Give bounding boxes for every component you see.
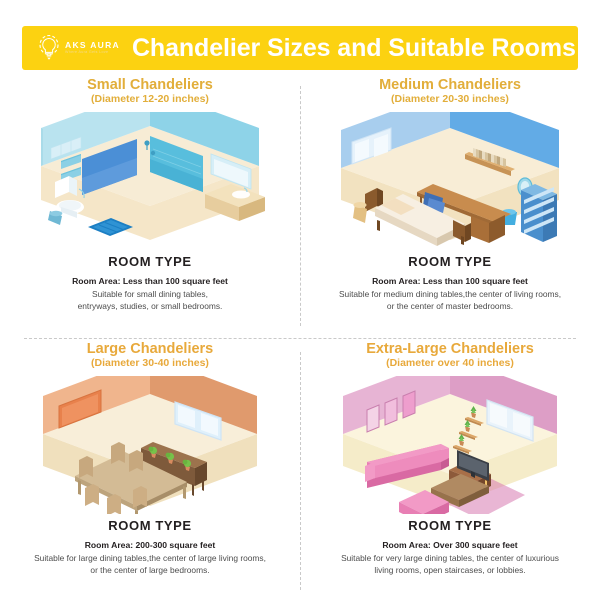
room-description-line2: or the center of master bedrooms. [387,301,513,311]
room-description-line2: living rooms, open staircases, or lobbie… [374,565,525,575]
bedroom-isometric [325,112,575,250]
infographic-root: AKS AURA Where Aura Gets Love Chandelier… [0,0,600,600]
logo-name: AKS AURA [65,41,120,50]
room-description-line1: Suitable for very large dining tables, t… [341,553,559,563]
room-description: Suitable for large dining tables,the cen… [5,552,295,576]
brand-logo: AKS AURA Where Aura Gets Love [36,33,120,63]
room-type-label: ROOM TYPE [108,254,191,269]
panel-grid: Small Chandeliers (Diameter 12-20 inches… [0,74,600,594]
panel-heading: Medium Chandeliers [379,78,521,93]
panel-large-chandeliers: Large Chandeliers (Diameter 30-40 inches… [0,338,300,598]
room-area: Room Area: Less than 100 square feet [372,276,528,286]
room-description-line1: Suitable for medium dining tables,the ce… [339,289,561,299]
panel-heading: Large Chandeliers [87,342,214,357]
panel-small-chandeliers: Small Chandeliers (Diameter 12-20 inches… [0,74,300,334]
header-banner: AKS AURA Where Aura Gets Love Chandelier… [22,26,578,70]
panel-subheading: (Diameter over 40 inches) [386,358,514,370]
panel-heading: Small Chandeliers [87,78,213,93]
room-type-label: ROOM TYPE [408,254,491,269]
room-description-line2: entryways, studies, or small bedrooms. [78,301,223,311]
panel-extra-large-chandeliers: Extra-Large Chandeliers (Diameter over 4… [300,338,600,598]
dining-room-isometric [25,376,275,514]
room-description: Suitable for small dining tables, entryw… [5,288,295,312]
room-area: Room Area: 200-300 square feet [85,540,216,550]
panel-medium-chandeliers: Medium Chandeliers (Diameter 20-30 inche… [300,74,600,334]
room-type-label: ROOM TYPE [408,518,491,533]
panel-heading: Extra-Large Chandeliers [366,342,534,357]
logo-tagline: Where Aura Gets Love [65,51,120,55]
room-description-line2: or the center of large bedrooms. [90,565,209,575]
panel-subheading: (Diameter 12-20 inches) [91,94,209,106]
panel-subheading: (Diameter 30-40 inches) [91,358,209,370]
panel-subheading: (Diameter 20-30 inches) [391,94,509,106]
room-description: Suitable for medium dining tables,the ce… [305,288,595,312]
room-description-line1: Suitable for small dining tables, [92,289,208,299]
page-title: Chandelier Sizes and Suitable Rooms [132,34,596,63]
room-description-line1: Suitable for large dining tables,the cen… [34,553,266,563]
living-room-isometric [325,376,575,514]
room-area: Room Area: Over 300 square feet [382,540,517,550]
lightbulb-icon [36,33,62,63]
room-type-label: ROOM TYPE [108,518,191,533]
room-area: Room Area: Less than 100 square feet [72,276,228,286]
bathroom-isometric [25,112,275,250]
room-description: Suitable for very large dining tables, t… [305,552,595,576]
